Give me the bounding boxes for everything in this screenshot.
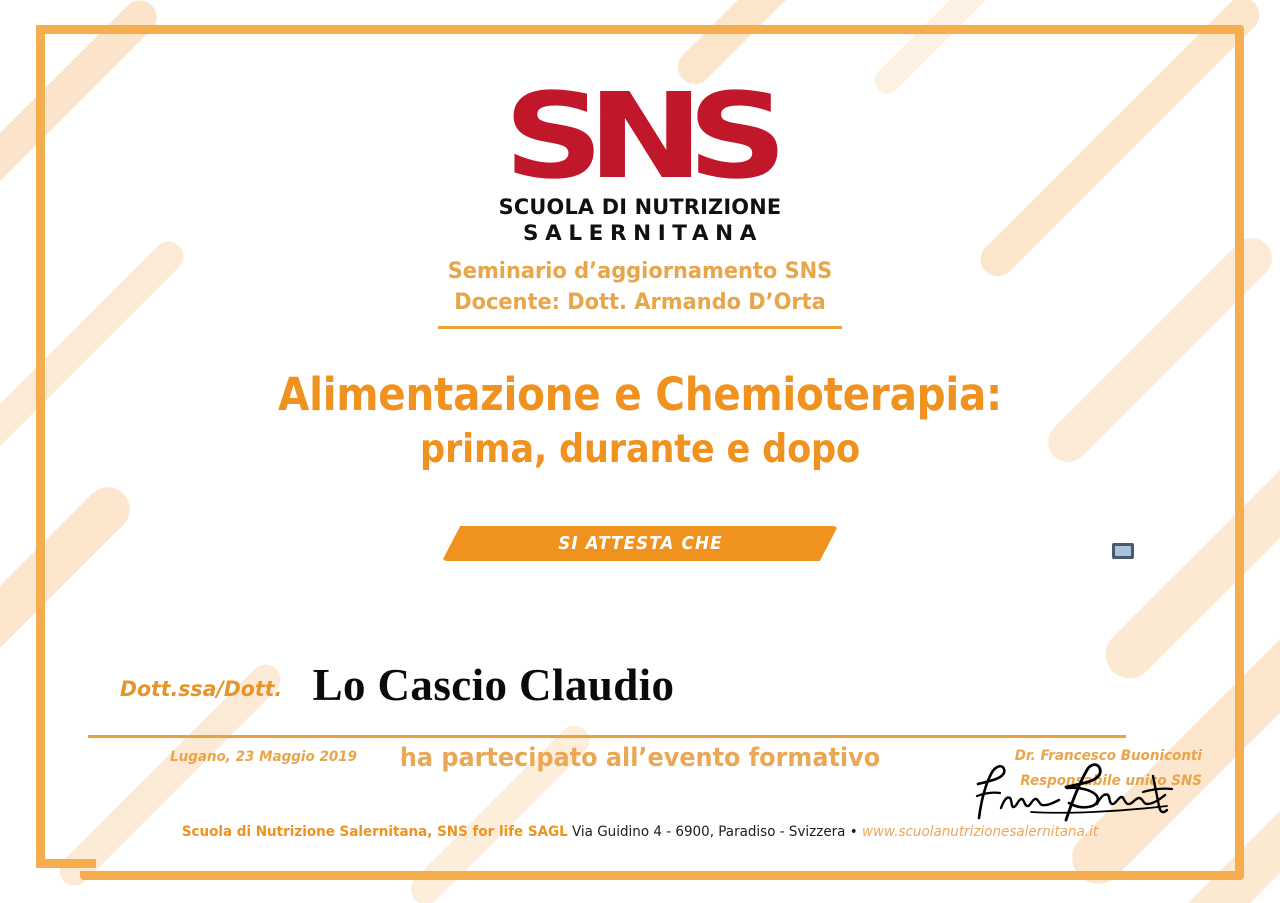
keyboard-icon[interactable] <box>1112 543 1134 559</box>
event-title: Alimentazione e Chemioterapia: prima, du… <box>45 367 1235 477</box>
seminar-lecturer: Docente: Dott. Armando D’Orta <box>87 287 1194 318</box>
recipient-block: Dott.ssa/Dott. Lo Cascio Claudio <box>120 646 1157 708</box>
seminar-title: Seminario d’aggiornamento SNS <box>87 256 1194 287</box>
certificate-content: SNS SCUOLA DI NUTRIZIONE SALERNITANA Sem… <box>45 34 1235 871</box>
certificate-page: SNS SCUOLA DI NUTRIZIONE SALERNITANA Sem… <box>0 0 1280 903</box>
frame-border-left <box>36 25 45 868</box>
seminar-divider <box>438 326 842 329</box>
footer-address: Via Guidino 4 - 6900, Paradiso - Svizzer… <box>568 824 862 840</box>
place-and-date: Lugano, 23 Maggio 2019 <box>170 749 357 765</box>
handwritten-signature <box>971 762 1186 824</box>
event-title-line2: prima, durante e dopo <box>105 423 1176 477</box>
attestation-ribbon-wrap: SI ATTESTA CHE <box>45 526 1235 561</box>
signature-block: Dr. Francesco Buoniconti Responsabile un… <box>872 744 1202 794</box>
attestation-ribbon-label: SI ATTESTA CHE <box>558 526 722 561</box>
event-title-line1: Alimentazione e Chemioterapia: <box>105 367 1176 423</box>
seminar-heading: Seminario d’aggiornamento SNS Docente: D… <box>45 256 1235 329</box>
frame-border-right <box>1235 25 1244 880</box>
footer-org: Scuola di Nutrizione Salernitana, SNS fo… <box>182 824 568 840</box>
footer: Scuola di Nutrizione Salernitana, SNS fo… <box>87 824 1194 840</box>
sns-logo-line2: SALERNITANA <box>45 221 1235 246</box>
attestation-ribbon: SI ATTESTA CHE <box>442 526 838 561</box>
footer-url[interactable]: www.scuolanutrizionesalernitana.it <box>862 824 1098 840</box>
recipient-name: Lo Cascio Claudio <box>120 659 1157 711</box>
frame-border-top <box>36 25 1244 34</box>
sns-logo-line1: SCUOLA DI NUTRIZIONE <box>63 195 1217 220</box>
frame-border-bottom <box>80 871 1244 880</box>
recipient-divider <box>88 735 1126 738</box>
sns-logo: SNS SCUOLA DI NUTRIZIONE SALERNITANA <box>45 82 1235 246</box>
sns-logo-mark: SNS <box>503 82 771 191</box>
